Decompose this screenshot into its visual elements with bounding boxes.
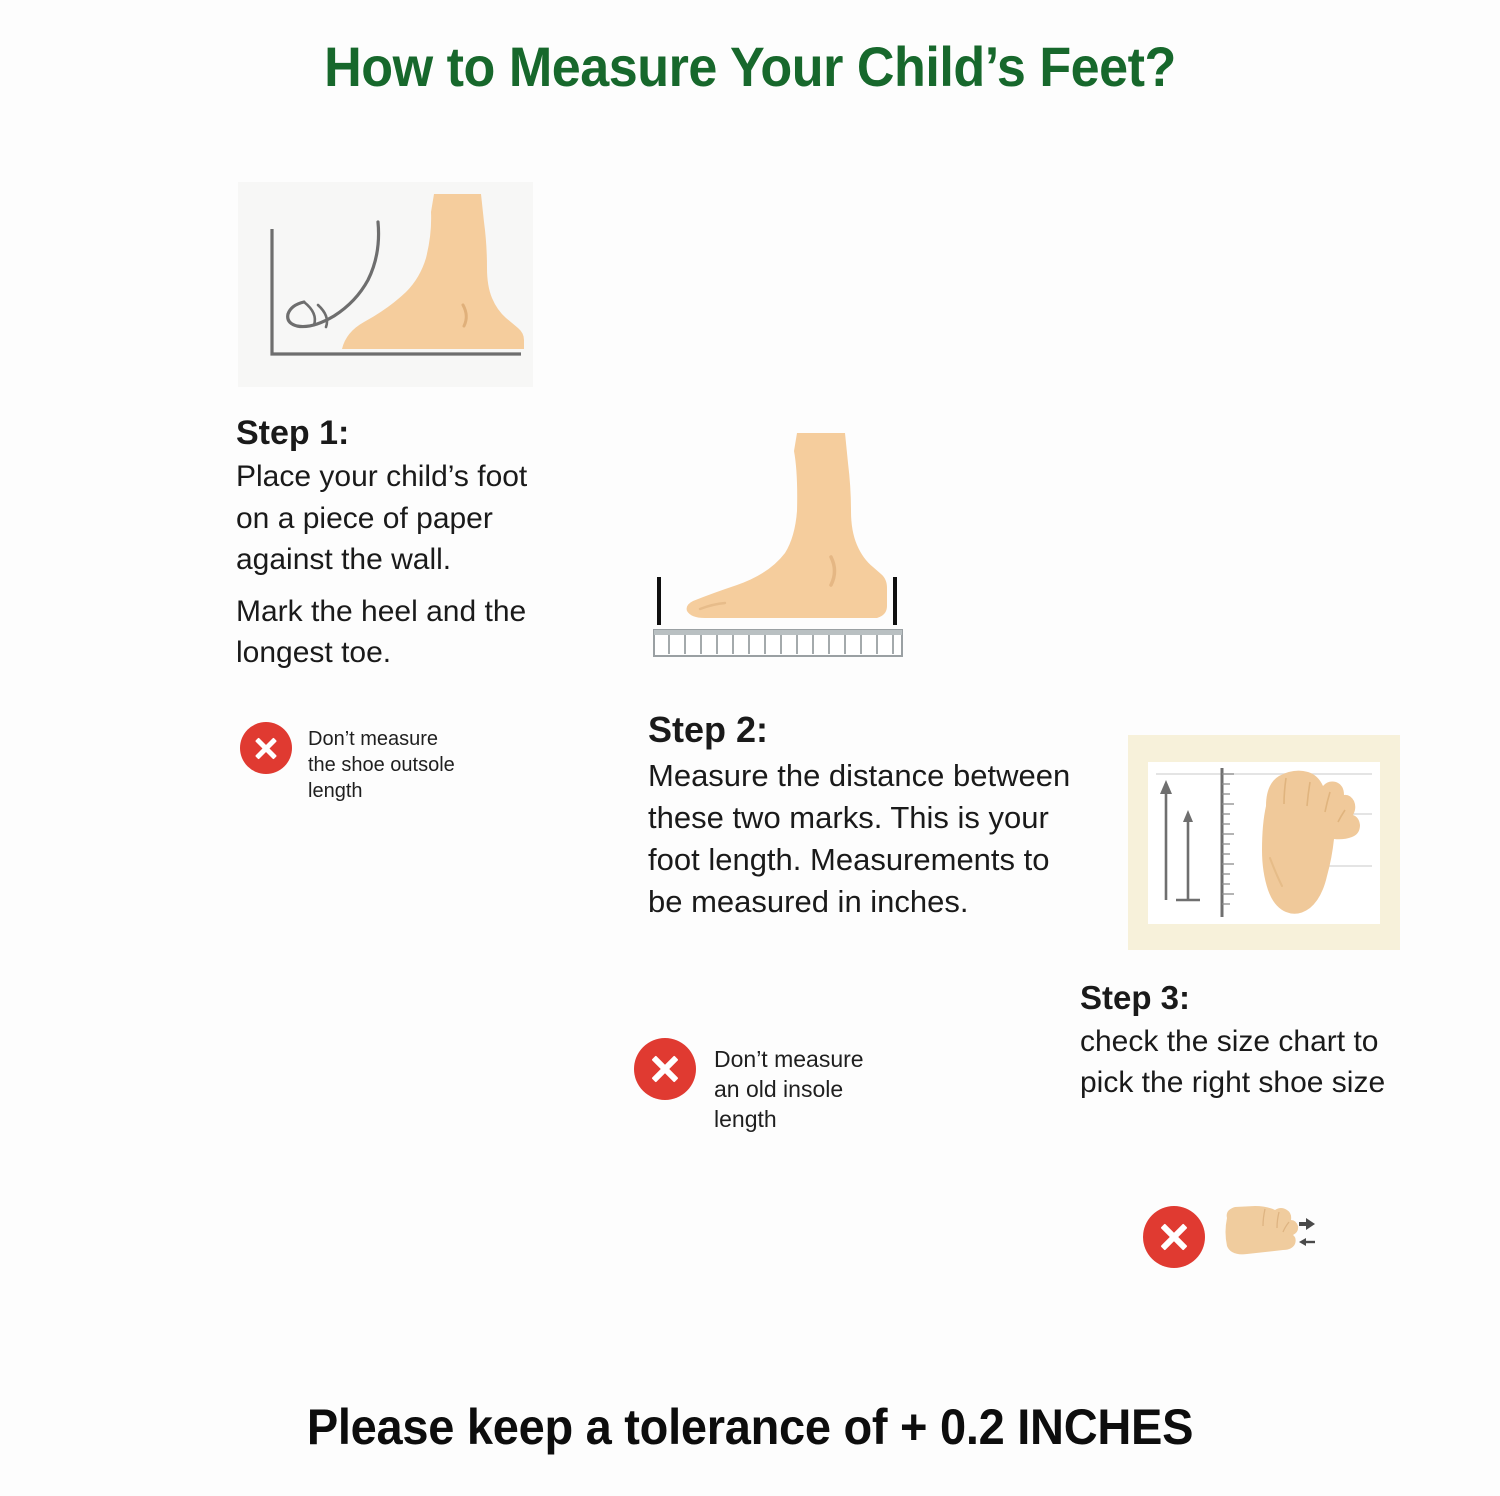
infographic-page: How to Measure Your Child’s Feet? Step 1… [0, 0, 1500, 1496]
right-arrow-icon [1299, 1218, 1315, 1230]
page-title: How to Measure Your Child’s Feet? [53, 34, 1448, 99]
heel-mark-line [893, 577, 897, 625]
red-x-circle-icon [634, 1038, 696, 1100]
small-foot-sole [1226, 1206, 1299, 1254]
step-1-paragraph-2: Mark the heel and the longest toe. [236, 591, 566, 674]
step-2-paragraph-1: Measure the distance between these two m… [648, 755, 1078, 923]
step-1-paragraph-1: Place your child’s foot on a piece of pa… [236, 456, 566, 581]
ruler-top-edge [654, 630, 902, 635]
foot-sole-shape [1262, 770, 1360, 913]
foot-shape [342, 194, 524, 349]
toe-curve-1 [304, 302, 315, 325]
short-length-arrow [1176, 810, 1200, 900]
step-1-heading: Step 1: [236, 410, 566, 456]
foot-shape [687, 433, 887, 618]
foot-width-arrows-svg [1221, 1202, 1316, 1272]
red-x-circle-icon [1143, 1206, 1205, 1268]
length-arrow [1160, 780, 1172, 900]
step-2-text-block: Step 2: Measure the distance between the… [648, 705, 1078, 923]
step2-illustration-foot-with-ruler [645, 425, 935, 665]
tolerance-note: Please keep a tolerance of + 0.2 INCHES [45, 1398, 1455, 1456]
toe-mark-line [657, 577, 661, 625]
warning-line: length [714, 1104, 864, 1134]
warning-line: Don’t measure [714, 1044, 864, 1074]
left-arrow-icon [1299, 1238, 1315, 1246]
warning-line: length [308, 778, 455, 804]
step-1-warning: Don’t measure the shoe outsole length [240, 722, 455, 804]
warning-line: an old insole [714, 1074, 864, 1104]
step-1-warning-text: Don’t measure the shoe outsole length [308, 722, 455, 804]
red-x-circle-icon [240, 722, 292, 774]
vertical-ruler-ticks [1222, 774, 1234, 904]
chart-paper [1148, 762, 1380, 924]
step-1-text-block: Step 1: Place your child’s foot on a pie… [236, 410, 566, 674]
warning-line: Don’t measure [308, 726, 455, 752]
step1-illustration-foot-against-wall [238, 182, 533, 387]
foot-sole-chart-svg [1148, 762, 1380, 924]
warning-line: the shoe outsole [308, 752, 455, 778]
foot-sole-with-width-arrows-icon [1221, 1202, 1316, 1272]
foot-with-ruler-svg [645, 425, 935, 665]
step-3-text-block: Step 3: check the size chart to pick the… [1080, 975, 1430, 1103]
step-3-heading: Step 3: [1080, 975, 1430, 1021]
foot-against-wall-svg [238, 182, 533, 387]
step-3-paragraph-1: check the size chart to pick the right s… [1080, 1021, 1430, 1103]
step-2-warning-text: Don’t measure an old insole length [714, 1038, 864, 1134]
step-3-warning [1143, 1202, 1316, 1272]
step-2-warning: Don’t measure an old insole length [634, 1038, 864, 1134]
step-2-heading: Step 2: [648, 705, 1078, 755]
shoe-outline [288, 222, 379, 327]
step3-illustration-foot-on-chart [1128, 735, 1400, 950]
